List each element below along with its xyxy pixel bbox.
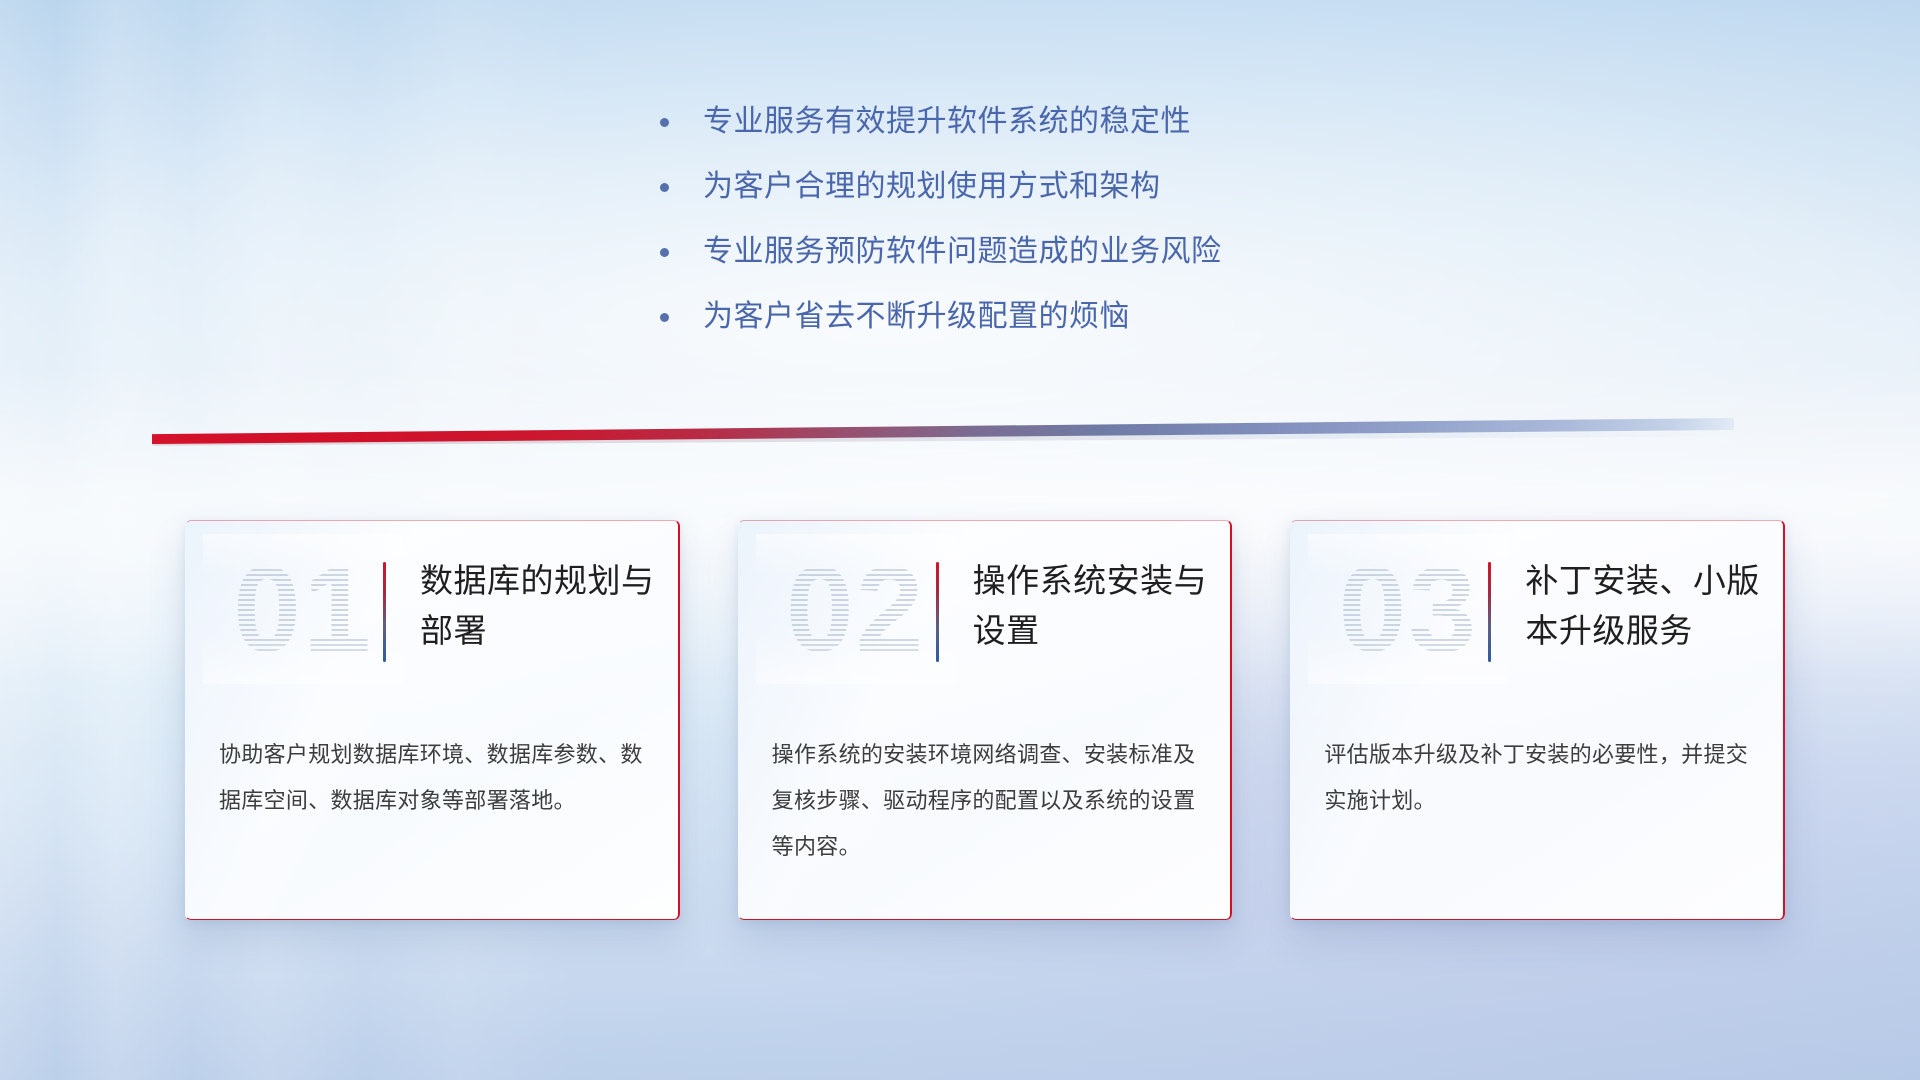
card-header: 01 数据库的规划与部署	[185, 520, 680, 710]
card-body-text: 操作系统的安装环境网络调查、安装标准及复核步骤、驱动程序的配置以及系统的设置等内…	[772, 732, 1203, 870]
card-header: 02 操作系统安装与设置	[738, 520, 1233, 710]
bullet-dot-icon	[660, 118, 669, 127]
service-card[interactable]: 01 数据库的规划与部署 协助客户规划数据库环境、数据库参数、数据库空间、数据库…	[185, 520, 680, 920]
bullet-dot-icon	[660, 248, 669, 257]
card-title: 补丁安装、小版本升级服务	[1525, 556, 1770, 656]
service-card[interactable]: 02 操作系统安装与设置 操作系统的安装环境网络调查、安装标准及复核步骤、驱动程…	[738, 520, 1233, 920]
bullet-item: 专业服务预防软件问题造成的业务风险	[660, 230, 1420, 295]
service-card[interactable]: 03 补丁安装、小版本升级服务 评估版本升级及补丁安装的必要性，并提交实施计划。	[1290, 520, 1785, 920]
bullet-label: 为客户省去不断升级配置的烦恼	[703, 295, 1130, 339]
card-title: 数据库的规划与部署	[420, 556, 665, 656]
card-body-text: 评估版本升级及补丁安装的必要性，并提交实施计划。	[1324, 732, 1755, 824]
bullet-dot-icon	[660, 313, 669, 322]
card-title-rule	[936, 562, 939, 662]
card-title-rule	[1488, 562, 1491, 662]
card-title: 操作系统安装与设置	[973, 556, 1218, 656]
card-number-watermark: 01	[203, 534, 403, 684]
card-body-text: 协助客户规划数据库环境、数据库参数、数据库空间、数据库对象等部署落地。	[219, 732, 650, 824]
benefits-bullet-list: 专业服务有效提升软件系统的稳定性 为客户合理的规划使用方式和架构 专业服务预防软…	[660, 100, 1420, 360]
section-divider	[152, 418, 1734, 444]
bullet-label: 为客户合理的规划使用方式和架构	[703, 165, 1161, 209]
bullet-label: 专业服务有效提升软件系统的稳定性	[703, 100, 1191, 144]
bullet-item: 为客户合理的规划使用方式和架构	[660, 165, 1420, 230]
card-title-rule	[383, 562, 386, 662]
bullet-item: 为客户省去不断升级配置的烦恼	[660, 295, 1420, 360]
card-number-watermark: 02	[756, 534, 956, 684]
slide-canvas: 专业服务有效提升软件系统的稳定性 为客户合理的规划使用方式和架构 专业服务预防软…	[0, 0, 1920, 1080]
bullet-label: 专业服务预防软件问题造成的业务风险	[703, 230, 1222, 274]
bullet-dot-icon	[660, 183, 669, 192]
service-card-list: 01 数据库的规划与部署 协助客户规划数据库环境、数据库参数、数据库空间、数据库…	[185, 520, 1785, 920]
card-number-watermark: 03	[1308, 534, 1508, 684]
card-header: 03 补丁安装、小版本升级服务	[1290, 520, 1785, 710]
bullet-item: 专业服务有效提升软件系统的稳定性	[660, 100, 1420, 165]
